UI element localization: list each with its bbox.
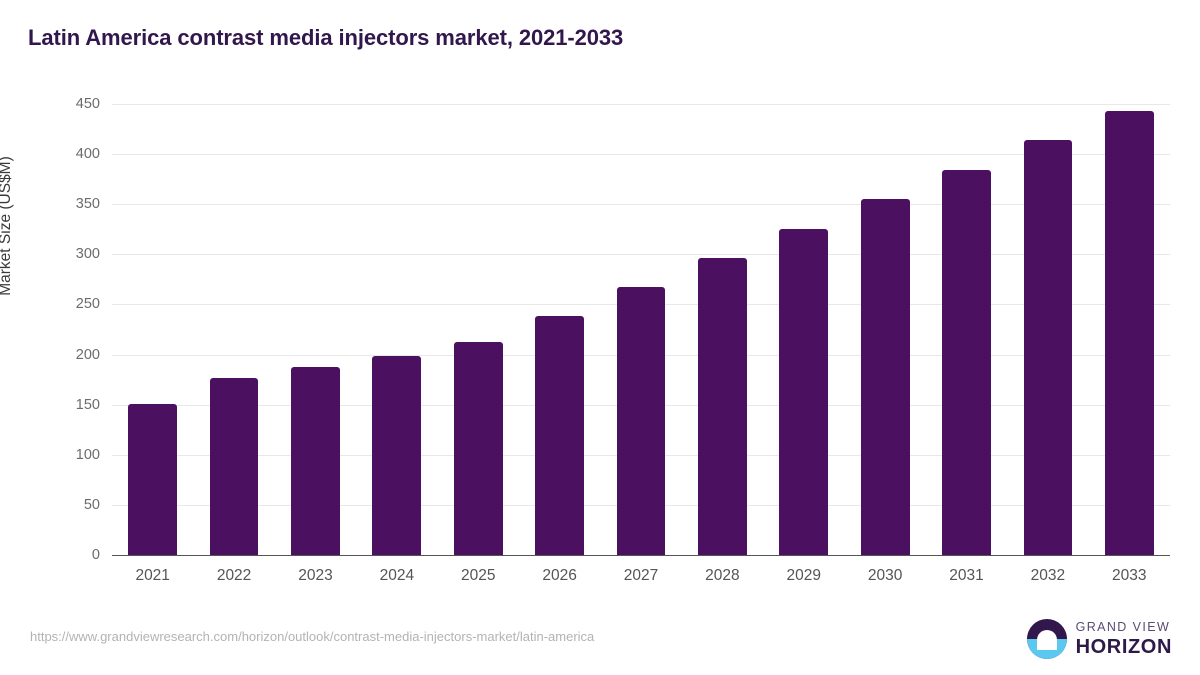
plot-area [112, 104, 1170, 555]
x-axis-line [112, 555, 1170, 557]
logo-ray-long [1038, 643, 1055, 646]
logo-text-grand-view: GRAND VIEW [1076, 621, 1172, 634]
y-axis-tick-label: 50 [30, 497, 100, 513]
bar-slot [454, 104, 503, 555]
bar-slot [1024, 104, 1073, 555]
bar[interactable] [454, 342, 503, 555]
bar-slot [210, 104, 259, 555]
y-axis-tick-label: 300 [30, 246, 100, 262]
y-axis-tick-label: 200 [30, 347, 100, 363]
bar-slot [372, 104, 421, 555]
bar-slot [128, 104, 177, 555]
bar[interactable] [1105, 111, 1154, 555]
x-axis-tick-label: 2027 [624, 567, 658, 585]
x-axis-tick-label: 2025 [461, 567, 495, 585]
x-axis-tick-label: 2029 [787, 567, 821, 585]
bar-slot [942, 104, 991, 555]
horizon-sun-icon [1027, 619, 1067, 659]
grand-view-horizon-logo[interactable]: GRAND VIEW HORIZON [1027, 619, 1172, 659]
page-title: Latin America contrast media injectors m… [28, 25, 623, 51]
bar[interactable] [535, 316, 584, 555]
logo-ray-short [1042, 647, 1052, 650]
bar[interactable] [942, 170, 991, 555]
x-axis-tick-label: 2028 [705, 567, 739, 585]
bar[interactable] [128, 404, 177, 555]
bar-slot [617, 104, 666, 555]
y-axis-tick-label: 100 [30, 447, 100, 463]
chart-page: Latin America contrast media injectors m… [0, 0, 1200, 675]
bar-series [112, 104, 1170, 555]
y-axis-title: Market Size (US$M) [0, 0, 17, 451]
x-axis-tick-label: 2024 [380, 567, 414, 585]
bar-slot [861, 104, 910, 555]
y-axis-tick-label: 250 [30, 296, 100, 312]
bar-slot [291, 104, 340, 555]
bar[interactable] [779, 229, 828, 555]
y-axis-tick-label: 400 [30, 146, 100, 162]
bar[interactable] [861, 199, 910, 555]
y-axis-tick-label: 450 [30, 96, 100, 112]
source-url[interactable]: https://www.grandviewresearch.com/horizo… [30, 629, 594, 644]
bar[interactable] [210, 378, 259, 555]
bar[interactable] [291, 367, 340, 555]
bar[interactable] [1024, 140, 1073, 555]
logo-text-horizon: HORIZON [1076, 637, 1172, 657]
x-axis-tick-label: 2030 [868, 567, 902, 585]
bar[interactable] [372, 356, 421, 555]
y-axis-tick-label: 150 [30, 397, 100, 413]
x-axis-tick-label: 2026 [542, 567, 576, 585]
bar-slot [698, 104, 747, 555]
y-axis-tick-label: 0 [30, 547, 100, 563]
bar[interactable] [617, 287, 666, 555]
logo-wordmark: GRAND VIEW HORIZON [1076, 621, 1172, 658]
x-axis-tick-label: 2022 [217, 567, 251, 585]
bar-slot [779, 104, 828, 555]
bar-slot [535, 104, 584, 555]
x-axis-tick-label: 2032 [1031, 567, 1065, 585]
bar-slot [1105, 104, 1154, 555]
bar[interactable] [698, 258, 747, 555]
y-axis-tick-label: 350 [30, 196, 100, 212]
x-axis-tick-label: 2031 [949, 567, 983, 585]
x-axis-tick-label: 2033 [1112, 567, 1146, 585]
y-axis-title-label: Market Size (US$M) [0, 156, 15, 296]
x-axis-tick-label: 2021 [135, 567, 169, 585]
x-axis-tick-label: 2023 [298, 567, 332, 585]
